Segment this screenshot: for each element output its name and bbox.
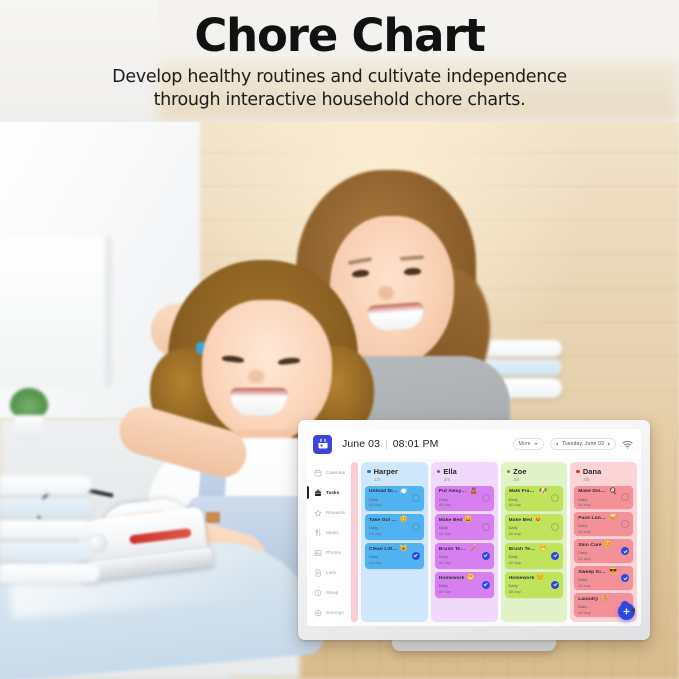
page-subtitle: Develop healthy routines and cultivate i… [112,66,567,111]
sidebar-item-meals[interactable]: Meals [307,523,351,542]
task-emoji: 😊 [604,542,612,548]
task-time: All day [369,560,420,565]
task-card[interactable]: Sweep Kitchen😎DailyAll day [574,566,633,590]
task-time: All day [578,556,629,561]
app-sidebar: CalendarTasksRewardsMealsPhotosListsSlee… [307,459,351,626]
task-checked-icon[interactable] [621,547,629,555]
header-datetime: June 03 | 08:01 PM [342,438,438,450]
tablet-device: June 03 | 08:01 PM More Tuesday, June 03 [298,420,650,652]
sidebar-item-sleep[interactable]: Sleep [307,583,351,602]
task-title: Skin Care [578,543,601,548]
task-time: All day [439,502,490,507]
task-card[interactable]: Homework😬DailyAll day [435,572,494,598]
task-checkbox[interactable] [621,520,629,528]
task-checkbox[interactable] [412,523,420,531]
meals-icon [314,529,322,537]
wifi-icon[interactable] [622,440,633,449]
potted-plant [8,388,50,440]
task-card[interactable]: Unload Dishwasher🍽️DailyAll day [365,486,424,512]
date-navigator[interactable]: Tuesday, June 03 [550,438,616,450]
task-time: All day [578,583,629,588]
tasks-icon [314,489,322,497]
task-title: Take Out Trash [369,518,398,523]
column-header: Zoe2/4 [505,467,564,483]
app-topbar: June 03 | 08:01 PM More Tuesday, June 03 [307,429,641,459]
tablet-screen: June 03 | 08:01 PM More Tuesday, June 03 [307,429,641,626]
task-emoji: 😺 [400,546,408,552]
sidebar-item-label: Tasks [326,490,339,495]
task-title: Brush Teeth [439,547,468,552]
task-emoji: 🪥 [470,546,478,552]
task-title: Make Bed [509,518,533,523]
task-title: Pack Lunches [578,516,607,521]
task-checked-icon[interactable] [412,552,420,560]
task-emoji: 🍳 [609,489,617,495]
sidebar-item-label: Photos [326,550,341,555]
member-name: Harper [374,467,398,476]
task-card[interactable]: Put Away Toys🧸DailyAll day [435,486,494,512]
task-emoji: 😁 [539,546,547,552]
header-separator: | [385,439,388,450]
task-time: All day [578,502,629,507]
task-checkbox[interactable] [621,493,629,501]
task-emoji: 🧺 [600,596,608,602]
more-label: More [519,441,531,447]
task-time: All day [439,560,490,565]
board-left-accent [351,462,358,622]
task-card[interactable]: Clean Litter Box😺DailyAll day [365,543,424,569]
chore-column-zoe[interactable]: Zoe2/4Walk Frankie🐶DailyAll dayMake Bed😺… [501,462,568,622]
task-title: Make Dinner [578,489,607,494]
task-card[interactable]: Brush Teeth🪥DailyAll day [435,543,494,569]
sidebar-item-label: Meals [326,530,339,535]
page-subtitle-line-2: through interactive household chore char… [112,89,567,111]
task-card[interactable]: Brush Teeth😁DailyAll day [505,543,564,569]
task-checked-icon[interactable] [482,552,490,560]
task-emoji: 😄 [464,517,472,523]
header-date: June 03 [342,438,380,450]
sidebar-item-label: Calendar [326,470,346,475]
completed-count: 2/4 [514,477,562,482]
window-frame [0,238,112,388]
task-time: All day [509,560,560,565]
task-emoji: 😊 [400,517,408,523]
task-title: Clean Litter Box [369,547,398,552]
page-subtitle-line-1: Develop healthy routines and cultivate i… [112,66,567,88]
sidebar-item-tasks[interactable]: Tasks [307,483,351,502]
task-time: All day [509,502,560,507]
task-emoji: 🧸 [470,489,478,495]
task-checked-icon[interactable] [551,581,559,589]
task-checked-icon[interactable] [482,581,490,589]
add-task-button[interactable] [618,603,635,620]
gear-icon [314,609,322,617]
sidebar-item-label: Sleep [326,590,339,595]
chore-column-ella[interactable]: Ella2/4Put Away Toys🧸DailyAll dayMake Be… [431,462,498,622]
task-checked-icon[interactable] [621,574,629,582]
task-title: Unload Dishwasher [369,489,398,494]
chore-column-dana[interactable]: Dana3/5Make Dinner🍳DailyAll dayPack Lunc… [570,462,637,622]
task-checkbox[interactable] [412,494,420,502]
member-name: Dana [583,467,601,476]
member-color-dot [507,470,511,474]
column-header: Ella2/4 [435,467,494,483]
task-title: Put Away Toys [439,489,468,494]
page-title: Chore Chart [194,12,484,59]
task-title: Laundry [578,597,598,602]
task-card[interactable]: Pack Lunches🥪DailyAll day [574,512,633,536]
sidebar-item-label: Rewards [326,510,345,515]
tablet-frame: June 03 | 08:01 PM More Tuesday, June 03 [298,420,650,640]
sidebar-item-rewards[interactable]: Rewards [307,503,351,522]
header-time: 08:01 PM [393,438,439,450]
task-time: All day [369,531,420,536]
task-emoji: 🍽️ [400,489,408,495]
calendar-icon[interactable] [313,435,332,454]
task-emoji: 😺 [534,517,542,523]
task-emoji: 😬 [467,575,475,581]
sleep-icon [314,589,322,597]
task-time: All day [439,589,490,594]
sidebar-item-calendar[interactable]: Calendar [307,463,351,482]
column-header: Harper1/3 [365,467,424,483]
girl-smile [230,388,288,416]
chore-board: Harper1/3Unload Dishwasher🍽️DailyAll day… [351,459,641,626]
task-checkbox[interactable] [551,523,559,531]
task-time: All day [369,502,420,507]
header-band: Chore Chart Develop healthy routines and… [0,0,679,122]
sidebar-item-lists[interactable]: Lists [307,563,351,582]
task-title: Sweep Kitchen [578,570,607,575]
task-card[interactable]: Make Bed😄DailyAll day [435,514,494,540]
task-card[interactable]: Skin Care😊DailyAll day [574,539,633,563]
member-color-dot [367,470,371,474]
completed-count: 3/5 [583,477,631,482]
task-title: Homework [509,576,535,581]
chevron-left-icon[interactable] [556,442,558,446]
task-title: Homework [439,576,465,581]
task-time: All day [578,529,629,534]
task-emoji: 🐶 [539,489,547,495]
chore-column-harper[interactable]: Harper1/3Unload Dishwasher🍽️DailyAll day… [361,462,428,622]
calendar-icon [314,469,322,477]
task-title: Brush Teeth [509,547,538,552]
task-time: All day [509,531,560,536]
member-name: Ella [443,467,457,476]
task-emoji: 😎 [609,569,617,575]
column-header: Dana3/5 [574,467,633,483]
sidebar-item-label: Settings [326,610,344,615]
completed-count: 2/4 [444,477,492,482]
member-color-dot [576,470,580,474]
sidebar-item-settings[interactable]: Settings [307,603,351,622]
poster-root: Chore Chart Develop healthy routines and… [0,0,679,679]
folded-towels-stack [0,476,92,594]
task-time: All day [509,589,560,594]
task-checkbox[interactable] [482,523,490,531]
chevron-right-icon[interactable] [608,442,610,446]
task-checkbox[interactable] [551,494,559,502]
task-card[interactable]: Make Bed😺DailyAll day [505,514,564,540]
selected-date-label: Tuesday, June 03 [562,441,604,447]
member-color-dot [437,470,441,474]
task-card[interactable]: Take Out Trash😊DailyAll day [365,514,424,540]
photos-icon [314,549,322,557]
task-card[interactable]: Homework😊DailyAll day [505,572,564,598]
task-emoji: 🥪 [609,515,617,521]
star-icon [314,509,322,517]
lists-icon [314,569,322,577]
task-emoji: 😊 [536,575,544,581]
camera-dot [632,608,636,612]
task-card[interactable]: Make Dinner🍳DailyAll day [574,486,633,510]
task-time: All day [439,531,490,536]
task-title: Walk Frankie [509,489,538,494]
task-card[interactable]: Walk Frankie🐶DailyAll day [505,486,564,512]
task-title: Make Bed [439,518,463,523]
sidebar-item-label: Lists [326,570,336,575]
more-dropdown[interactable]: More [513,438,544,450]
member-name: Zoe [513,467,526,476]
task-checked-icon[interactable] [551,552,559,560]
sidebar-item-photos[interactable]: Photos [307,543,351,562]
task-checkbox[interactable] [482,494,490,502]
chevron-down-icon [534,443,538,445]
completed-count: 1/3 [374,477,422,482]
